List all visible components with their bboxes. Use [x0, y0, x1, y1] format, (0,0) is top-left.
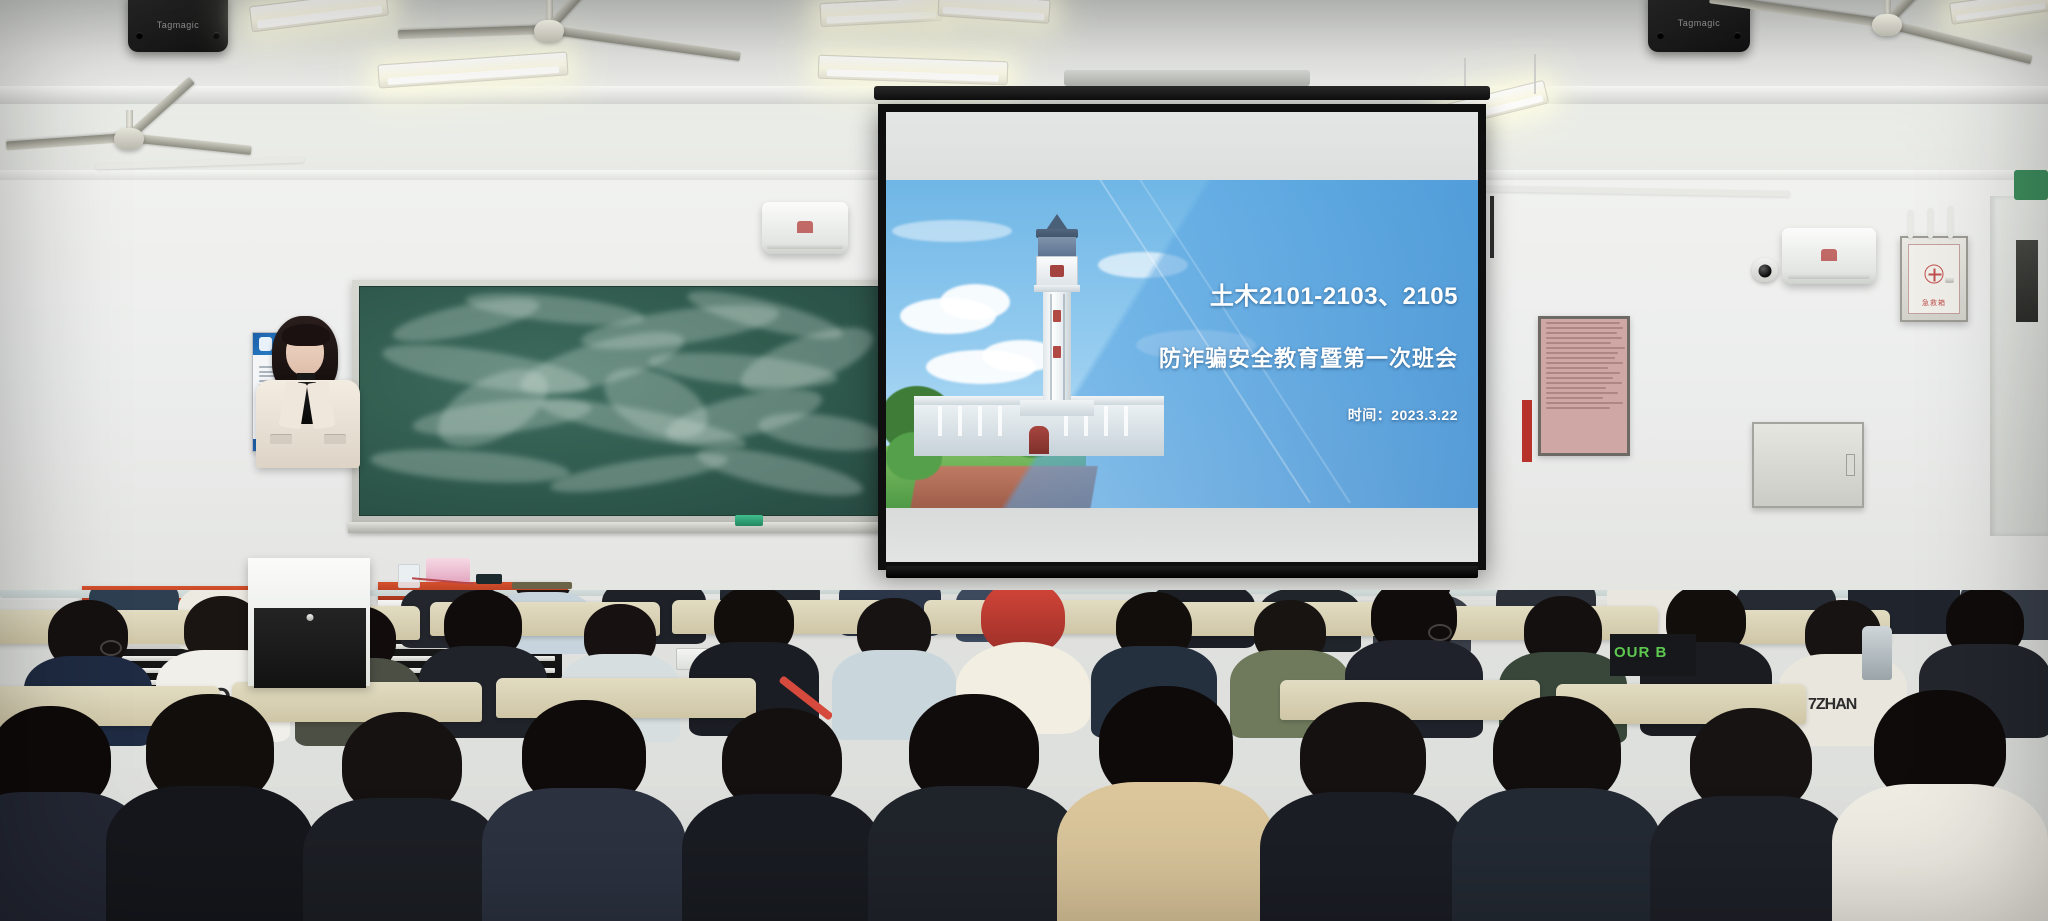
presenter-pocket [270, 434, 292, 444]
audience-member [500, 700, 668, 921]
building-entrance [1029, 426, 1049, 454]
pointer-stick[interactable] [512, 582, 572, 589]
security-camera-icon [1752, 258, 1778, 282]
eyeglasses-icon [100, 640, 122, 656]
tower-belfry [1038, 237, 1076, 257]
audience-member [886, 694, 1062, 921]
first-aid-cabinet[interactable]: 急救箱 [1900, 236, 1968, 322]
audience-member [1278, 702, 1448, 921]
ac-brand-icon [1821, 249, 1837, 261]
ac-vent [1788, 275, 1871, 279]
red-banner-strip [1522, 400, 1532, 462]
tower-sign-lower [1053, 346, 1061, 358]
conduit-drop [1908, 210, 1913, 238]
audience-member [1076, 686, 1256, 921]
tower-sign-upper [1053, 310, 1061, 322]
fan-hub [1872, 14, 1902, 36]
eyeglasses-icon [1428, 624, 1452, 641]
tower-groove [1050, 294, 1052, 400]
speaker-mount-hole [136, 32, 143, 39]
chalk-ledge [348, 522, 896, 533]
speaker-mount-hole [213, 32, 220, 39]
audience-member [1850, 690, 2030, 921]
speaker-mount-hole [1657, 32, 1664, 39]
air-conditioner-left [762, 202, 848, 254]
speaker-brand-label: Tagmagic [157, 20, 200, 30]
desk-cup[interactable] [398, 564, 420, 588]
audience-member [320, 712, 484, 921]
screen-blank-top [886, 112, 1478, 180]
jacket-text-panel: OUR B [1610, 634, 1696, 676]
conduit-drop [1928, 208, 1933, 238]
ac-vent [767, 245, 843, 249]
projection-screen: 土木2101-2103、2105 防诈骗安全教育暨第一次班会 时间：2023.3… [878, 104, 1486, 570]
tower-cornice [1034, 285, 1080, 292]
presenter-hair-front [282, 324, 330, 346]
camera-lens-icon [1759, 265, 1772, 278]
classroom-scene: Tagmagic Tagmagic [0, 0, 2048, 921]
remote-control[interactable] [476, 574, 502, 584]
medical-cross-icon [1925, 265, 1944, 284]
speaker-brand-label: Tagmagic [1678, 18, 1721, 28]
chalkboard [352, 280, 892, 526]
screen-cable [1490, 196, 1494, 258]
water-bottle[interactable] [1862, 626, 1892, 680]
audience-member [1668, 708, 1834, 921]
ceiling-speaker-right: Tagmagic [1648, 0, 1750, 52]
chalkboard-surface [359, 286, 885, 516]
tower-clock-dial [1050, 265, 1064, 277]
tower-base [1020, 400, 1094, 416]
blackboard-eraser[interactable] [735, 515, 763, 526]
audience-member [1470, 696, 1644, 921]
cabinet-label: 急救箱 [1902, 298, 1966, 308]
slide-class-list: 土木2101-2103、2105 [1158, 276, 1458, 311]
fan-hub [534, 20, 564, 42]
notice-poster-red [1538, 316, 1630, 456]
ac-brand-icon [797, 221, 813, 233]
clock-tower-graphic [1034, 214, 1080, 424]
door-opening [2016, 240, 2038, 322]
tower-groove [1063, 294, 1065, 400]
slide-title: 防诈骗安全教育暨第一次班会 [1158, 341, 1458, 373]
speaker-mount-hole [1734, 32, 1741, 39]
slide-date: 时间：2023.3.22 [1158, 405, 1458, 425]
slide-text-block: 土木2101-2103、2105 防诈骗安全教育暨第一次班会 时间：2023.3… [1158, 276, 1458, 425]
tower-clock-face [1036, 256, 1078, 286]
projection-screen-roller [874, 86, 1490, 100]
fan-hub [114, 128, 144, 150]
presenter-figure [256, 316, 360, 468]
projection-screen-weight-bar [886, 566, 1478, 578]
ceiling-speaker-left: Tagmagic [128, 0, 228, 52]
lamp-hanger [1534, 54, 1536, 94]
screen-blank-bottom [886, 508, 1478, 562]
air-conditioner-right [1782, 228, 1876, 284]
cabinet-latch[interactable] [1945, 276, 1954, 283]
lectern-front-panel [254, 608, 366, 688]
projection-surface: 土木2101-2103、2105 防诈骗安全教育暨第一次班会 时间：2023.3… [886, 112, 1478, 562]
exit-sign [2014, 170, 2048, 200]
conduit-drop [1948, 206, 1953, 238]
projector-rail [1064, 70, 1310, 86]
tower-spire [1046, 214, 1068, 230]
presenter-pocket [324, 434, 346, 444]
electrical-panel[interactable] [1752, 422, 1864, 508]
audience-member [124, 694, 296, 921]
presentation-slide: 土木2101-2103、2105 防诈骗安全教育暨第一次班会 时间：2023.3… [886, 180, 1478, 508]
audience-member [700, 708, 864, 921]
